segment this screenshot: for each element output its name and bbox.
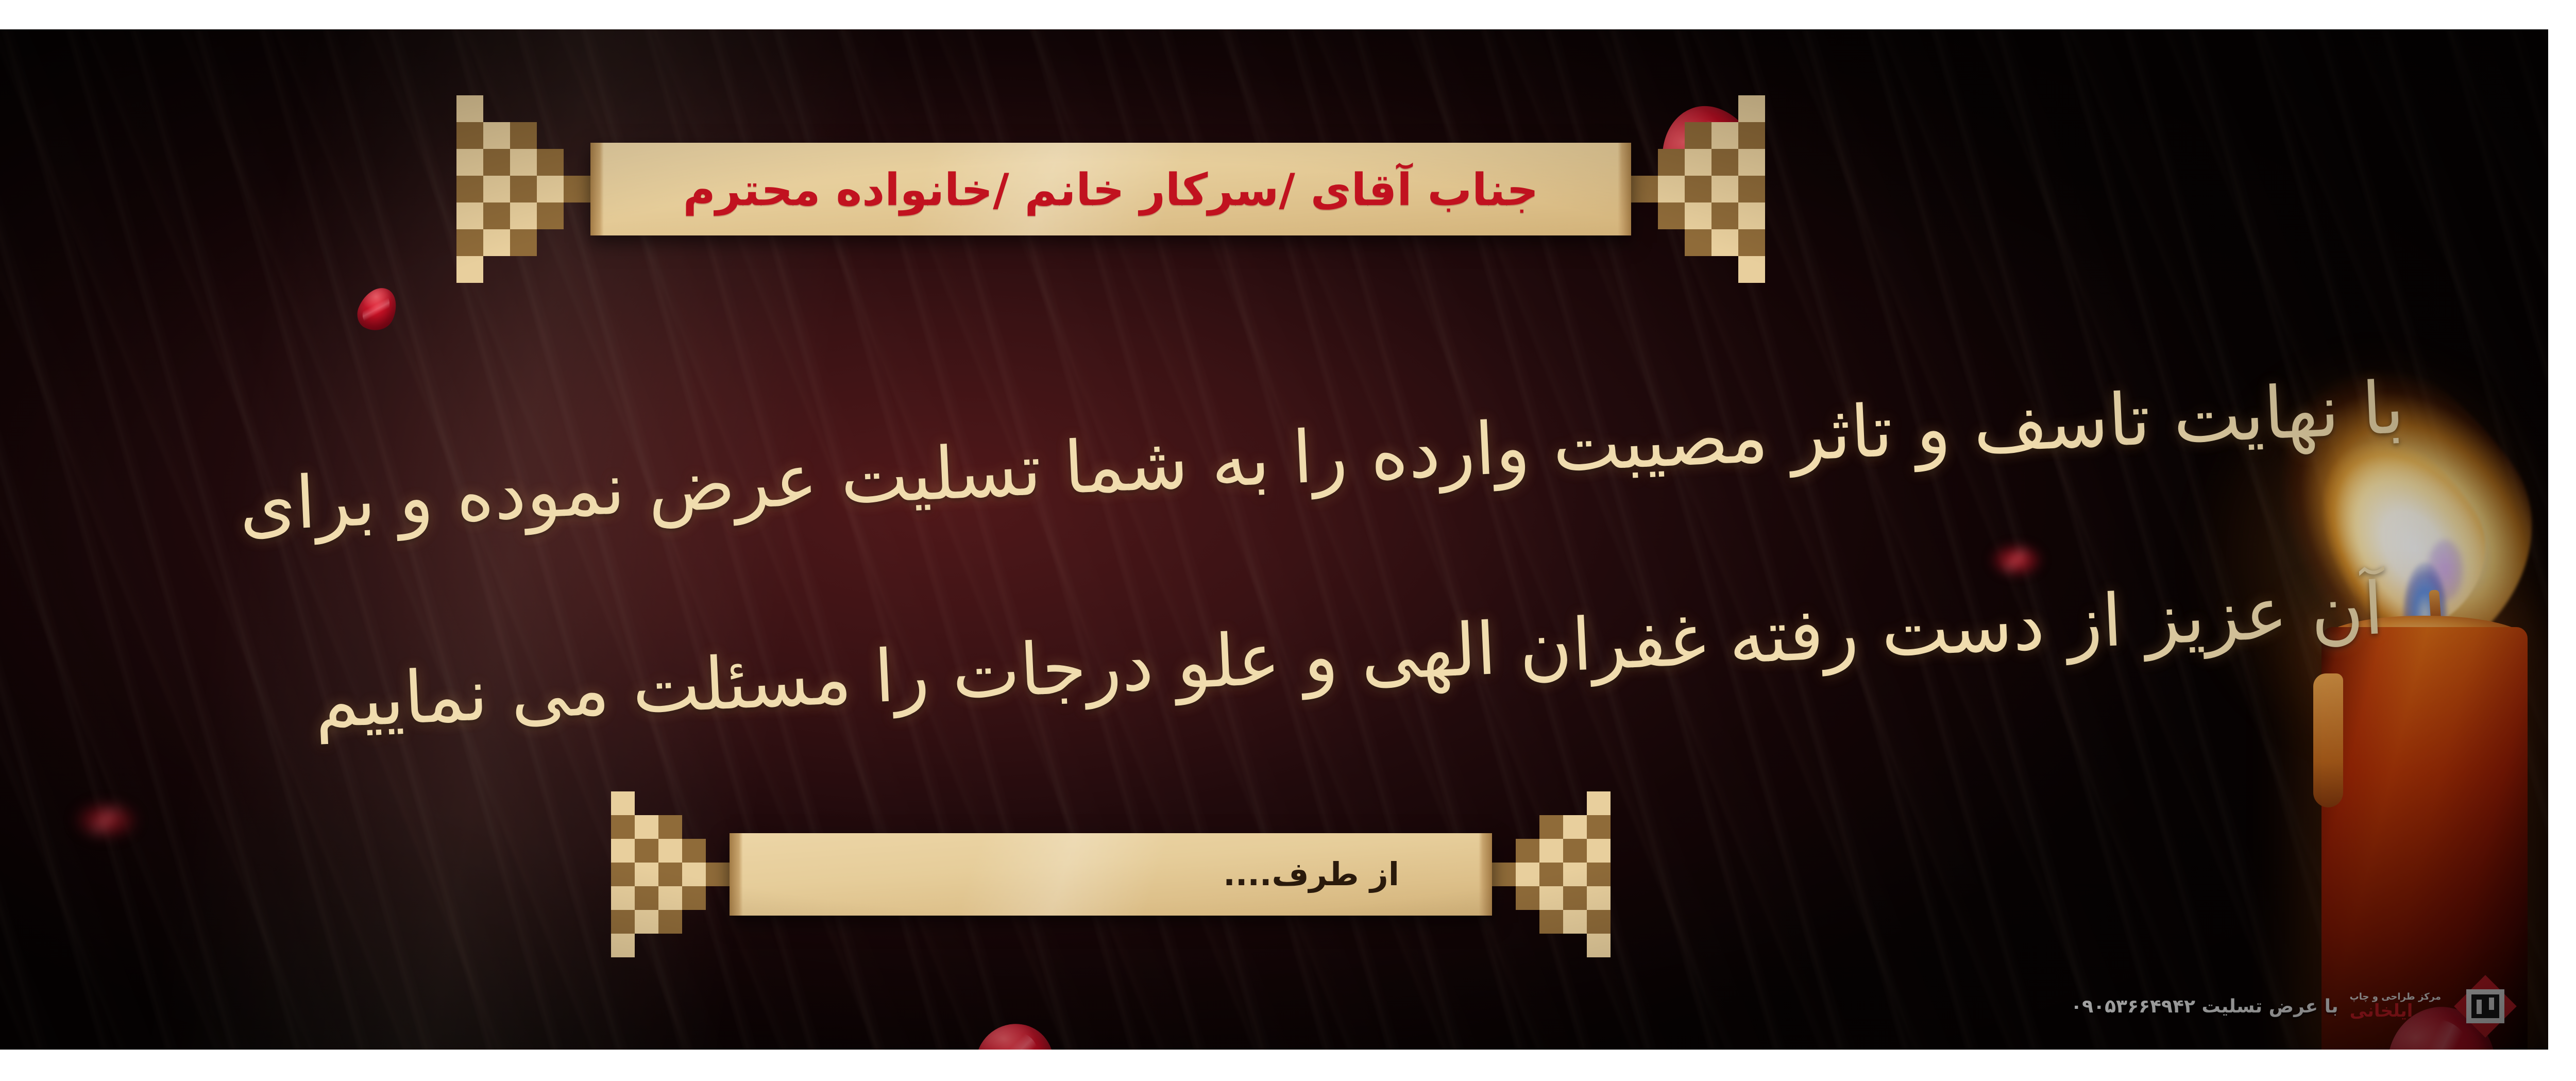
vignette-overlay [0, 29, 2548, 1050]
condolence-banner: جناب آقای /سرکار خانم /خانواده محترم با … [0, 29, 2548, 1050]
banner-stage: جناب آقای /سرکار خانم /خانواده محترم با … [0, 0, 2576, 1081]
